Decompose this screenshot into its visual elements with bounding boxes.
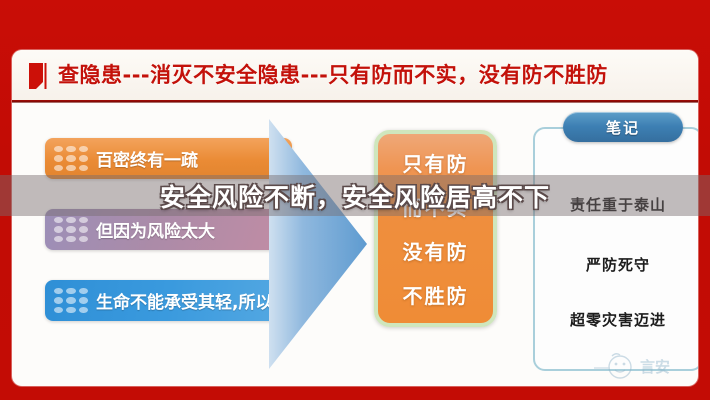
center-line-4: 不胜防 <box>403 280 469 309</box>
dot-grid-icon <box>54 288 88 314</box>
step-box-2[interactable]: 但因为风险太大 <box>45 209 292 250</box>
note-line-1: 责任重于泰山 <box>535 194 698 215</box>
dot-grid-icon <box>54 217 88 243</box>
note-badge-label: 笔记 <box>606 117 640 138</box>
page-title: 查隐患---消灭不安全隐患---只有防而不实，没有防不胜防 <box>58 59 608 89</box>
header-divider <box>12 100 698 103</box>
note-badge-button[interactable]: 笔记 <box>563 112 683 142</box>
step-box-2-label: 但因为风险太大 <box>96 217 215 242</box>
step-box-1-label: 百密终有一疏 <box>96 146 198 171</box>
note-panel: 责任重于泰山 严防死守 超零灾害迈进 <box>533 127 698 371</box>
center-line-3: 没有防 <box>403 236 469 265</box>
note-line-2: 严防死守 <box>535 254 698 275</box>
step-box-3[interactable]: 生命不能承受其轻,所以-- <box>45 280 292 321</box>
center-line-2: 而不实 <box>403 192 469 221</box>
diagram-stage: 百密终有一疏 但因为风险太大 生命不能承受其轻,所以-- <box>12 105 698 386</box>
center-line-1: 只有防 <box>403 148 469 177</box>
note-line-3: 超零灾害迈进 <box>535 309 698 330</box>
header-bar: 查隐患---消灭不安全隐患---只有防而不实，没有防不胜防 <box>12 50 698 102</box>
red-flag-icon <box>28 62 48 90</box>
right-arrow-icon <box>267 119 369 369</box>
dot-grid-icon <box>54 146 88 172</box>
smiley-face-icon: 言安 <box>594 350 690 382</box>
slide-root: 查隐患---消灭不安全隐患---只有防而不实，没有防不胜防 百密终有一疏 但因为… <box>0 0 710 400</box>
content-panel: 查隐患---消灭不安全隐患---只有防而不实，没有防不胜防 百密终有一疏 但因为… <box>12 50 698 386</box>
step-box-1[interactable]: 百密终有一疏 <box>45 138 292 179</box>
svg-text:言安: 言安 <box>640 358 670 376</box>
step-box-3-label: 生命不能承受其轻,所以-- <box>96 288 287 313</box>
center-message-box: 只有防 而不实 没有防 不胜防 <box>374 130 497 327</box>
